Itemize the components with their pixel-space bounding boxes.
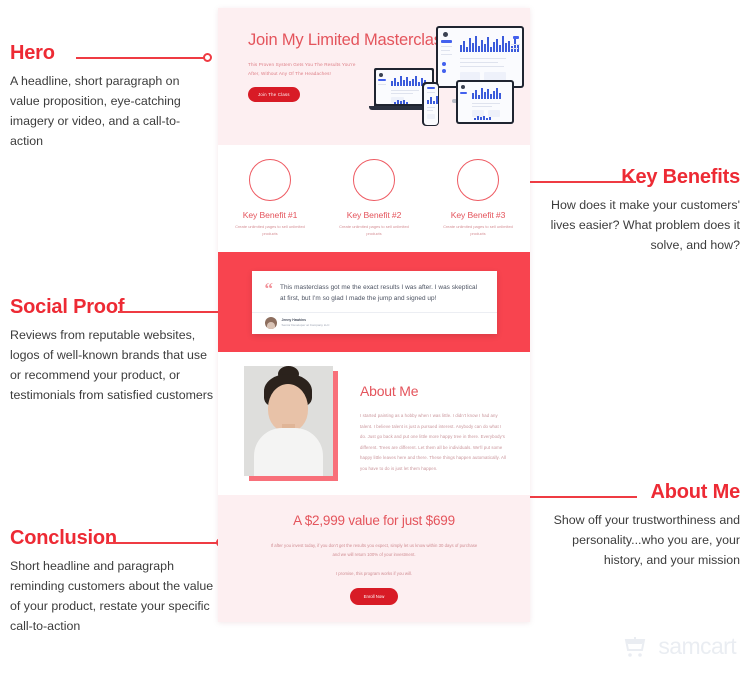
benefit-title: Key Benefit #3 <box>426 210 530 220</box>
callout-key-benefits-title: Key Benefits <box>621 166 740 188</box>
samcart-logo-text: samcart <box>658 633 736 660</box>
connector-line-conclusion <box>106 542 219 544</box>
benefit-card: Key Benefit #1 Create unlimited pages to… <box>218 159 322 252</box>
callout-key-benefits-body: How does it make your customers' lives e… <box>537 195 740 255</box>
testimonial-author-role: Senior Developer at Company LLC <box>282 323 330 328</box>
benefit-text: Create unlimited pages to sell unlimited… <box>322 224 426 238</box>
callout-conclusion-body: Short headline and paragraph reminding c… <box>10 556 215 636</box>
testimonial-author: Jenny Hawkins Senior Developer at Compan… <box>252 312 497 334</box>
about-text-block: About Me I started painting as a hobby w… <box>338 366 508 495</box>
mockup-about-section: About Me I started painting as a hobby w… <box>218 352 530 495</box>
callout-hero-title: Hero <box>10 42 55 64</box>
conclusion-headline: A $2,999 value for just $699 <box>218 513 530 528</box>
device-mockup-cluster <box>374 24 526 136</box>
connector-line-about-me <box>518 496 637 498</box>
tablet-bar-chart <box>472 88 501 99</box>
benefit-text: Create unlimited pages to sell unlimited… <box>426 224 530 238</box>
connector-line-key-benefits <box>518 181 636 183</box>
connector-line-hero <box>76 57 206 59</box>
benefit-card: Key Benefit #2 Create unlimited pages to… <box>322 159 426 252</box>
benefit-card: Key Benefit #3 Create unlimited pages to… <box>426 159 530 252</box>
callout-about-me-title: About Me <box>651 481 741 503</box>
benefit-text: Create unlimited pages to sell unlimited… <box>218 224 322 238</box>
phone-device <box>422 82 439 126</box>
tablet-screen <box>458 82 512 122</box>
callout-hero-body: A headline, short paragraph on value pro… <box>10 71 210 151</box>
benefit-circle-icon <box>353 159 395 201</box>
callout-social-proof-body: Reviews from reputable websites, logos o… <box>10 325 215 405</box>
mockup-conclusion-section: A $2,999 value for just $699 If after yo… <box>218 495 530 622</box>
callout-about-me: About Me Show off your trustworthiness a… <box>537 481 740 570</box>
callout-hero-title-row: Hero <box>10 42 210 64</box>
tablet-device <box>456 80 514 124</box>
benefit-title: Key Benefit #2 <box>322 210 426 220</box>
about-photo-block <box>244 366 338 481</box>
callout-social-proof-title: Social Proof <box>10 296 124 318</box>
mockup-benefits-section: Key Benefit #1 Create unlimited pages to… <box>218 145 530 252</box>
callout-conclusion-title: Conclusion <box>10 527 117 549</box>
benefit-circle-icon <box>457 159 499 201</box>
benefit-circle-icon <box>249 159 291 201</box>
shopping-cart-icon <box>623 635 649 659</box>
callout-social-proof-title-row: Social Proof <box>10 296 215 318</box>
avatar <box>265 317 277 329</box>
mockup-hero-subhead: This Proven System Gets You The Results … <box>248 61 368 78</box>
testimonial-card: “ This masterclass got me the exact resu… <box>252 271 497 334</box>
samcart-logo: samcart <box>623 633 736 660</box>
phone-bar-chart <box>427 96 438 104</box>
desktop-monitor-device <box>436 26 524 88</box>
benefit-title: Key Benefit #1 <box>218 210 322 220</box>
mockup-hero-cta-button[interactable]: Join The Class <box>248 87 300 102</box>
about-title: About Me <box>360 383 508 399</box>
callout-key-benefits-title-row: Key Benefits <box>537 166 740 188</box>
conclusion-paragraph-2: I promise, this program works if you wil… <box>218 571 530 576</box>
connector-dot-hero <box>203 53 212 62</box>
monitor-screen <box>438 28 522 86</box>
phone-screen <box>424 84 438 125</box>
conclusion-cta-button[interactable]: Enroll Now <box>350 588 399 605</box>
mockup-hero-section: Join My Limited Masterclass This Proven … <box>218 8 530 145</box>
callout-key-benefits: Key Benefits How does it make your custo… <box>537 166 740 255</box>
screenshot-root: Hero A headline, short paragraph on valu… <box>0 0 750 678</box>
about-paragraph: I started painting as a hobby when I was… <box>360 411 508 474</box>
about-portrait-image <box>244 366 333 476</box>
mockup-social-proof-section: “ This masterclass got me the exact resu… <box>218 252 530 352</box>
laptop-bar-chart <box>391 76 426 86</box>
landing-page-mockup: Join My Limited Masterclass This Proven … <box>218 8 530 622</box>
portrait-shirt <box>254 428 323 476</box>
conclusion-paragraph-1: If after you invest today, if you don't … <box>218 541 530 560</box>
callout-about-me-body: Show off your trustworthiness and person… <box>537 510 740 570</box>
callout-conclusion-title-row: Conclusion <box>10 527 215 549</box>
callout-about-me-title-row: About Me <box>537 481 740 503</box>
